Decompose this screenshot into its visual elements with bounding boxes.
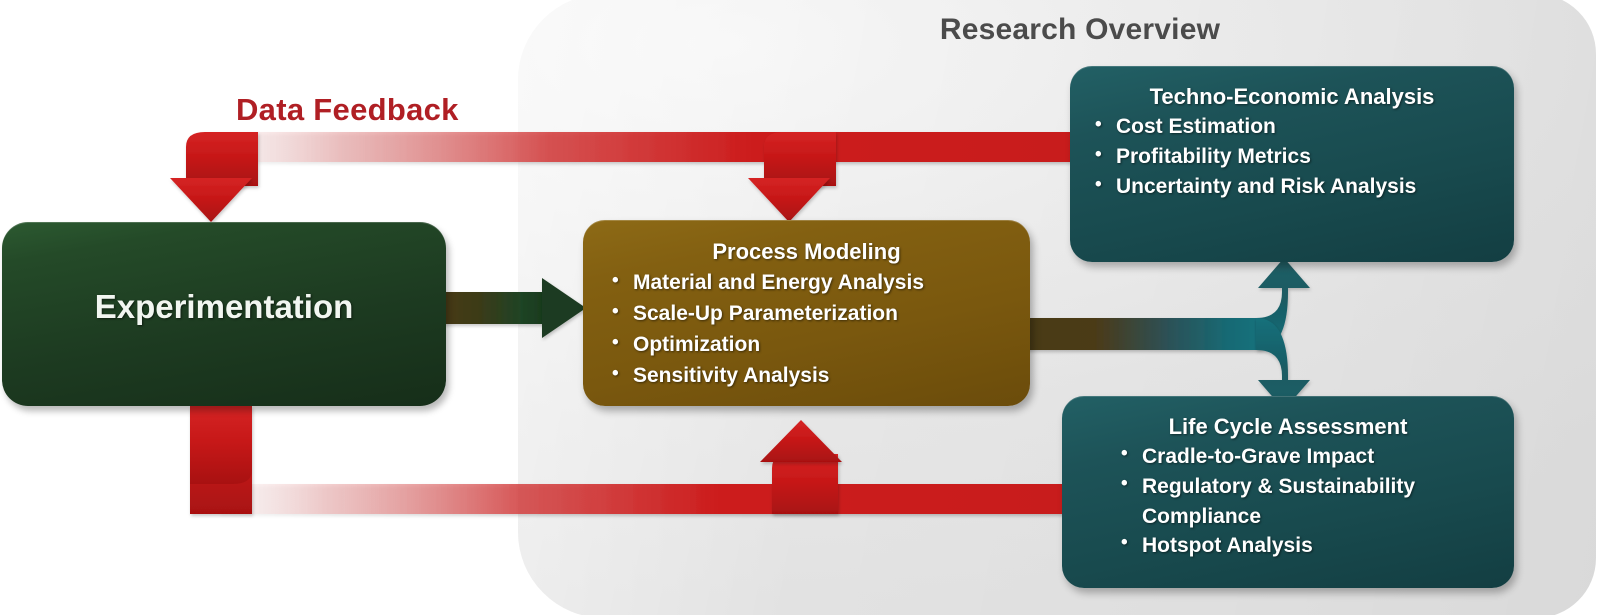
node-life-cycle-assessment[interactable]: Life Cycle Assessment Cradle-to-Grave Im… [1062,396,1514,588]
node-experimentation[interactable]: Experimentation [2,222,446,406]
list-item: Uncertainty and Risk Analysis [1090,172,1498,202]
list-item: Profitability Metrics [1090,142,1498,172]
node-techno-economic-analysis-content: Techno-Economic Analysis Cost Estimation… [1070,66,1514,262]
list-item: Cost Estimation [1090,112,1498,142]
experimentation-to-process-arrow [440,278,586,338]
list-item: Regulatory & Sustainability Compliance [1116,472,1498,532]
node-techno-economic-analysis[interactable]: Techno-Economic Analysis Cost Estimation… [1070,66,1514,262]
node-techno-economic-analysis-list: Cost Estimation Profitability Metrics Un… [1086,112,1498,203]
node-techno-economic-analysis-title: Techno-Economic Analysis [1086,84,1498,110]
node-life-cycle-assessment-title: Life Cycle Assessment [1078,414,1498,440]
list-item: Cradle-to-Grave Impact [1116,442,1498,472]
list-item: Scale-Up Parameterization [607,299,1014,330]
list-item: Sensitivity Analysis [607,361,1014,392]
node-experimentation-title: Experimentation [2,288,446,326]
data-feedback-label: Data Feedback [236,92,459,128]
node-life-cycle-assessment-content: Life Cycle Assessment Cradle-to-Grave Im… [1062,396,1514,588]
node-process-modeling-title: Process Modeling [599,239,1014,265]
process-to-analyses-split-arrow [1026,258,1310,410]
node-process-modeling-content: Process Modeling Material and Energy Ana… [583,220,1030,406]
node-life-cycle-assessment-list: Cradle-to-Grave Impact Regulatory & Sust… [1078,442,1498,561]
feedback-bottom-arrow [190,406,1082,514]
node-process-modeling[interactable]: Process Modeling Material and Energy Ana… [583,220,1030,406]
diagram-canvas: Research Overview [0,0,1600,615]
node-process-modeling-list: Material and Energy Analysis Scale-Up Pa… [599,268,1014,391]
list-item: Hotspot Analysis [1116,531,1498,561]
feedback-top-arrow [170,132,1080,222]
list-item: Material and Energy Analysis [607,268,1014,299]
list-item: Optimization [607,330,1014,361]
